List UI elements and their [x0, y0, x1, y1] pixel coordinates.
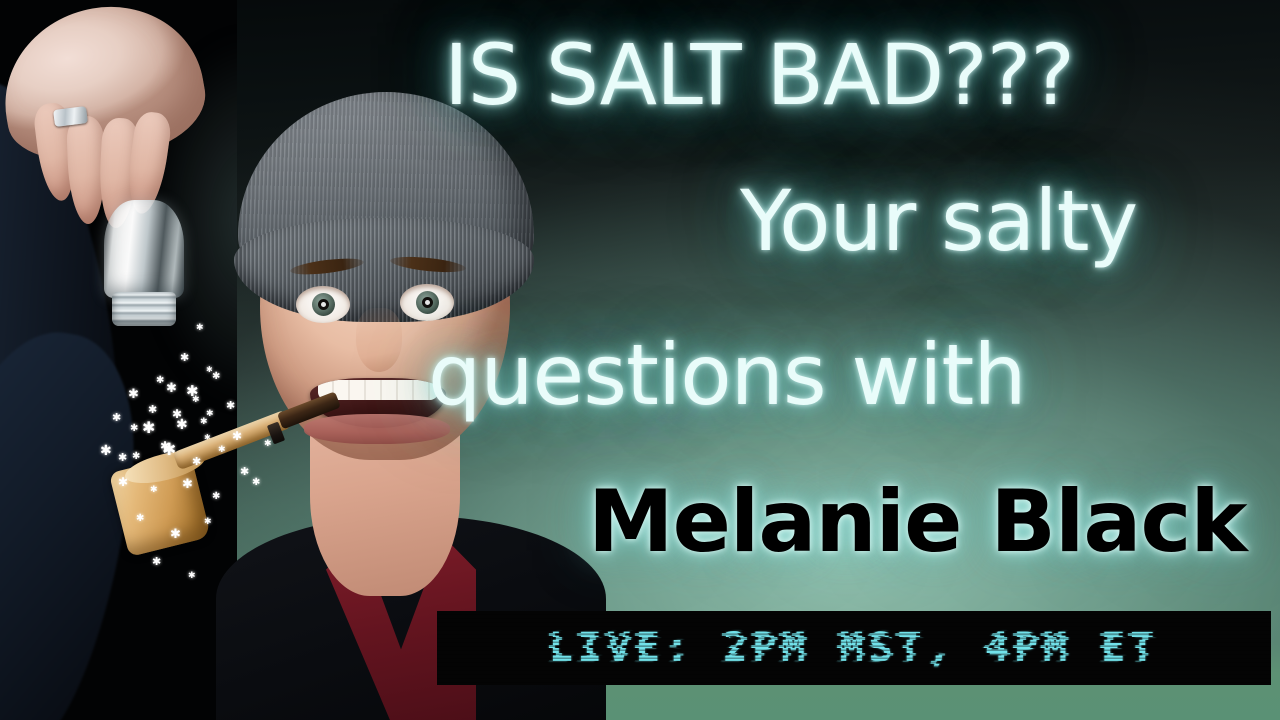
glass-salt-shaker [98, 200, 190, 330]
corn-cob-pipe [118, 418, 348, 548]
pupil [422, 297, 433, 308]
pupil [318, 299, 329, 310]
youtube-thumbnail: ✱ ✱ ✱ ✱ ✱ ✱ ✱ ✱ ✱ ✱ ✱ ✱ ✱ ✱ ✱ [0, 0, 1280, 720]
nose [356, 308, 402, 372]
eye-left [296, 286, 350, 323]
iris [312, 293, 335, 316]
shaker-glass-body [104, 200, 184, 298]
eye-right [400, 284, 454, 321]
eye-glint [425, 300, 430, 305]
beanie-brim [234, 218, 534, 322]
live-schedule-text: LIVE: 2PM MST, 4PM ET [549, 625, 1160, 671]
shaker-metal-cap [112, 292, 176, 326]
iris [416, 291, 439, 314]
eye-glint [321, 302, 326, 307]
live-schedule-banner: LIVE: 2PM MST, 4PM ET [437, 611, 1271, 685]
beanie-brim-texture [234, 218, 534, 322]
